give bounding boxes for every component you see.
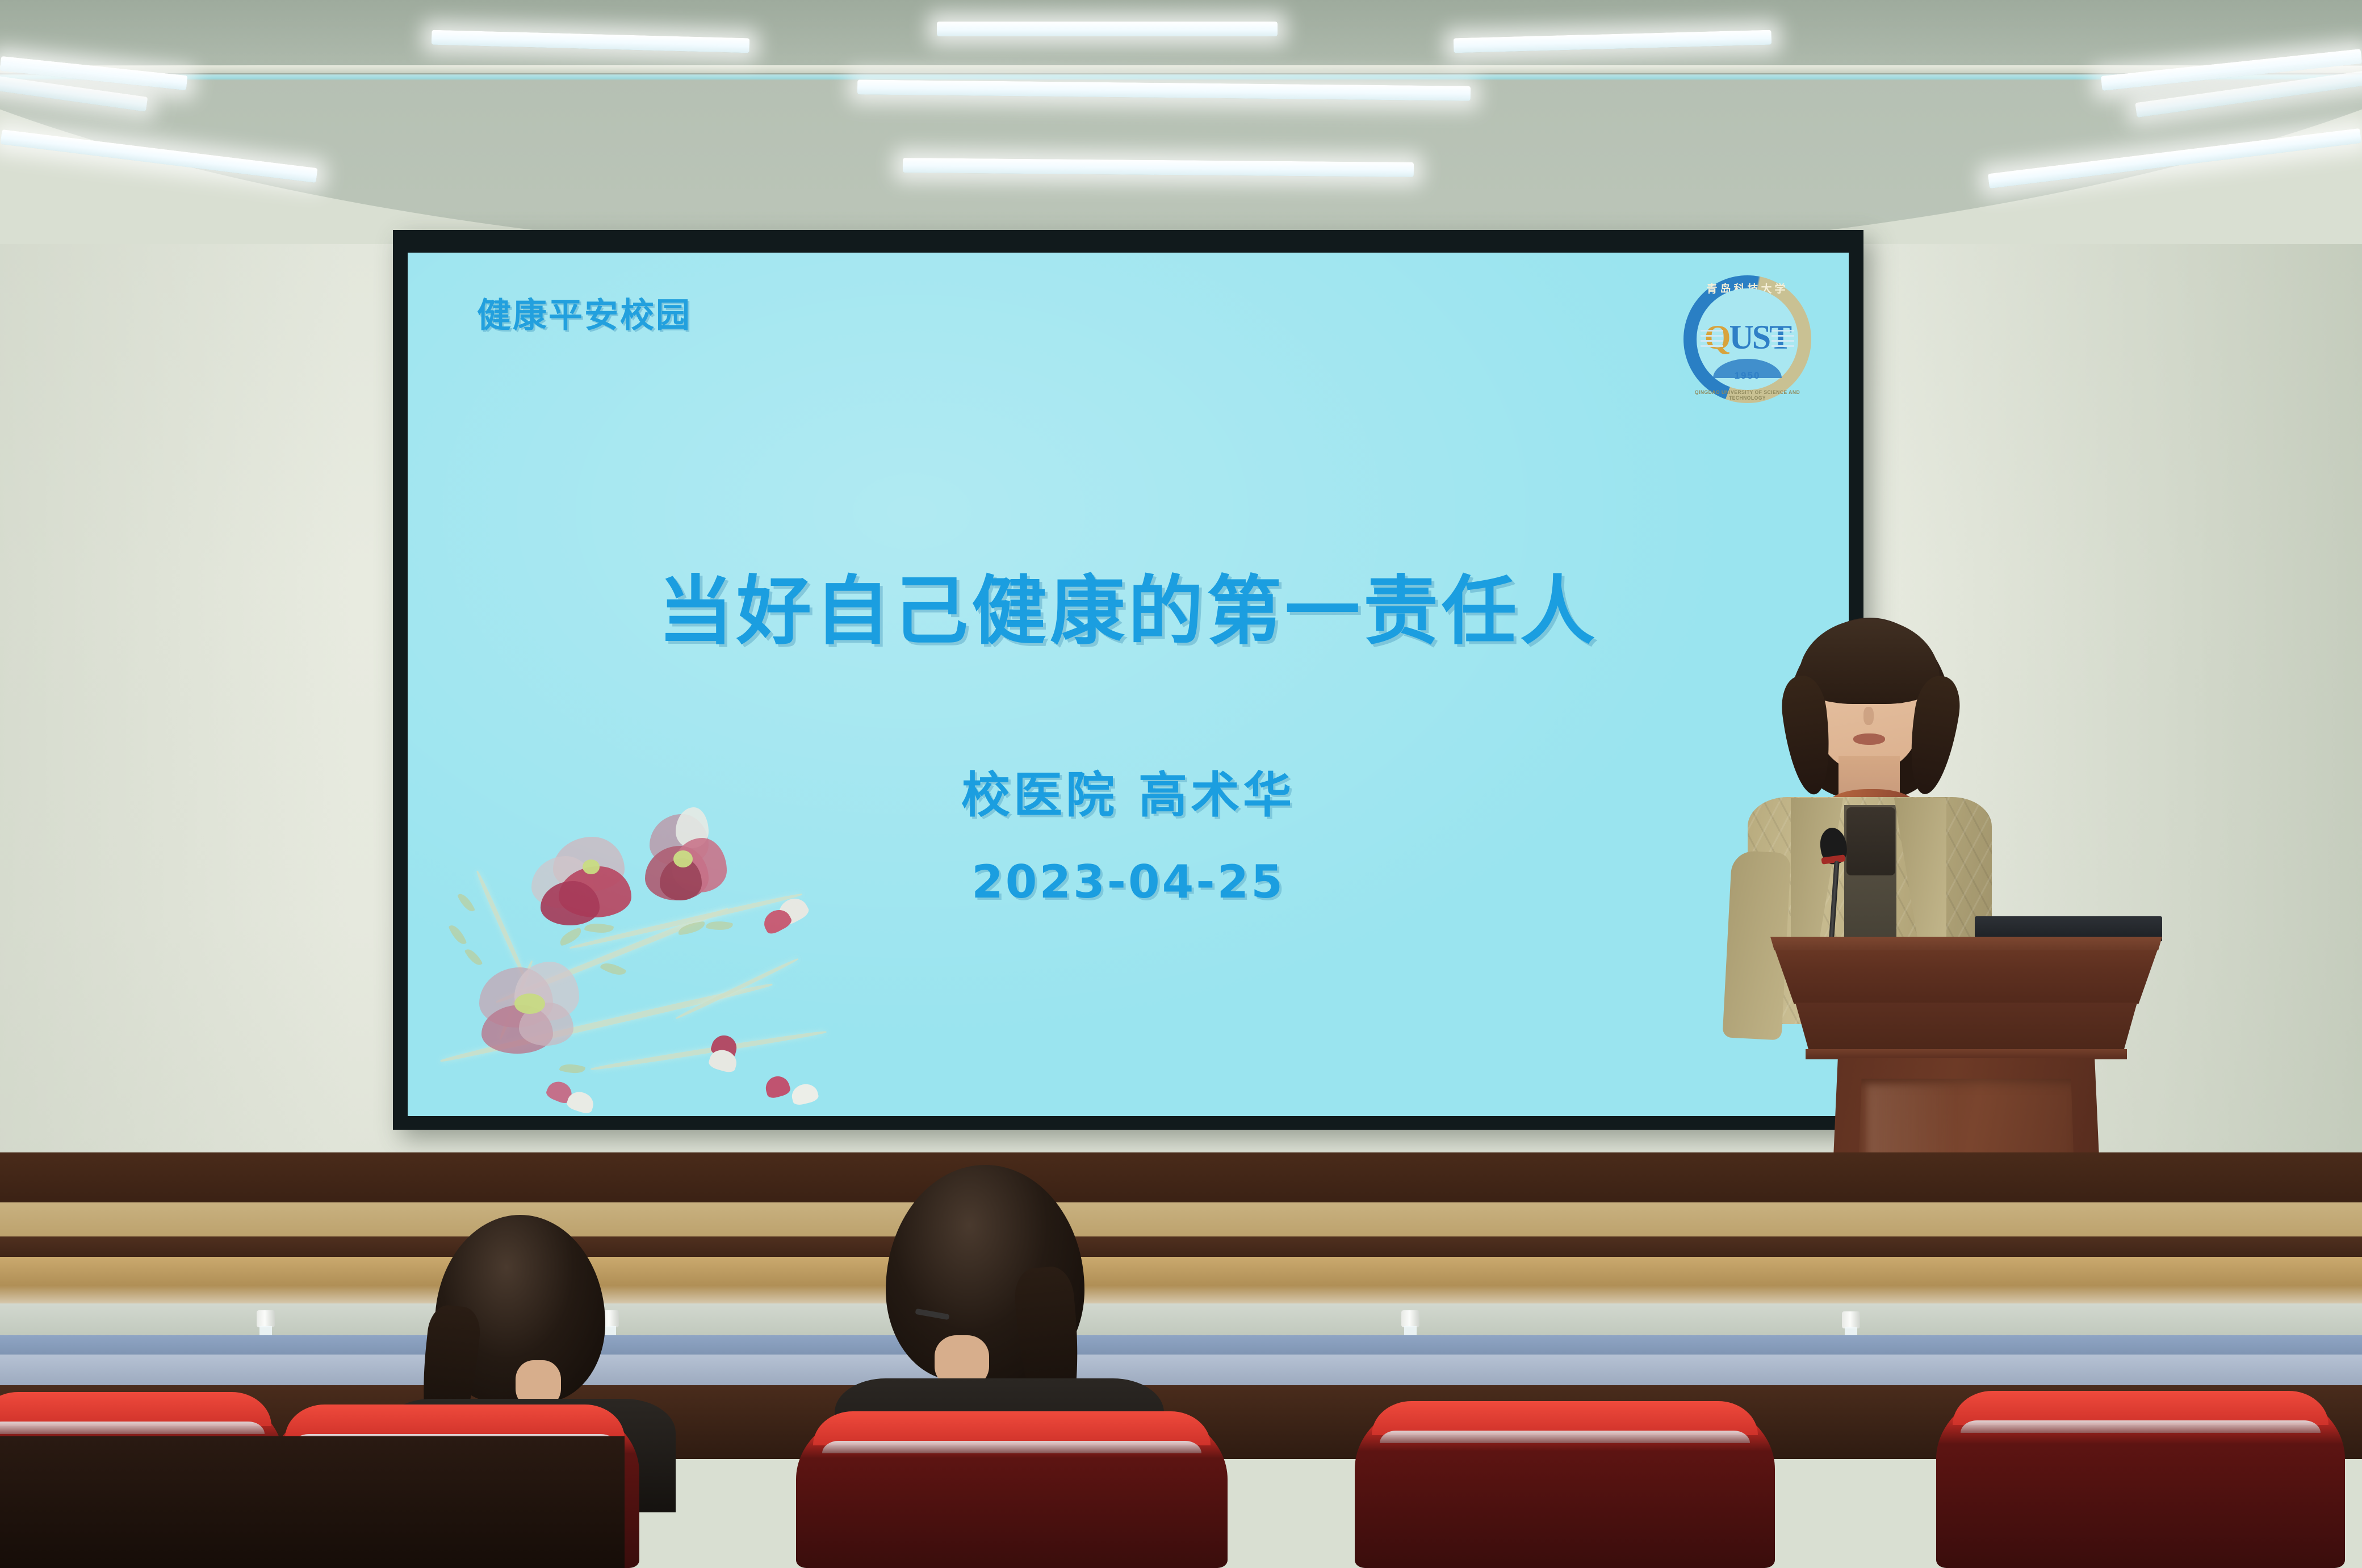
near-table-top bbox=[0, 1355, 2362, 1389]
presentation-slide[interactable]: 健康平安校园 青岛科技大学 QUST 1950 QINGDAO UNIVERSI… bbox=[408, 253, 1849, 1116]
audience-chair[interactable] bbox=[1355, 1401, 1775, 1568]
audience-chair[interactable] bbox=[796, 1411, 1228, 1568]
lecture-hall-scene: 健康平安校园 青岛科技大学 QUST 1950 QINGDAO UNIVERSI… bbox=[0, 0, 2362, 1568]
ceiling-light-strip bbox=[937, 22, 1278, 36]
slide-date: 2023-04-25 bbox=[408, 856, 1849, 908]
near-table-edge bbox=[0, 1335, 2362, 1356]
audience-chair[interactable] bbox=[1936, 1391, 2345, 1568]
audience-member bbox=[435, 1215, 605, 1402]
slide-presenter: 校医院 高术华 bbox=[408, 755, 1849, 826]
logo-founding-year: 1950 bbox=[1683, 370, 1811, 381]
slide-title: 当好自己健康的第一责任人 bbox=[408, 551, 1849, 659]
far-table-shadow bbox=[0, 1236, 2362, 1259]
wall-shadow-left bbox=[0, 244, 352, 1209]
slide-kicker: 健康平安校园 bbox=[477, 288, 692, 337]
qingdao-university-logo: 青岛科技大学 QUST 1950 QINGDAO UNIVERSITY OF S… bbox=[1683, 275, 1811, 403]
logo-english-name: QINGDAO UNIVERSITY OF SCIENCE AND TECHNO… bbox=[1687, 389, 1808, 401]
far-table-front bbox=[0, 1303, 2362, 1338]
ceiling bbox=[0, 0, 2362, 261]
stage-riser bbox=[0, 1152, 2362, 1205]
mouth bbox=[1853, 733, 1885, 745]
projection-screen-frame: 健康平安校园 青岛科技大学 QUST 1950 QINGDAO UNIVERSI… bbox=[393, 230, 1863, 1130]
audience-member bbox=[886, 1165, 1084, 1381]
far-table-top bbox=[0, 1257, 2362, 1305]
floor-shadow bbox=[0, 1436, 625, 1568]
